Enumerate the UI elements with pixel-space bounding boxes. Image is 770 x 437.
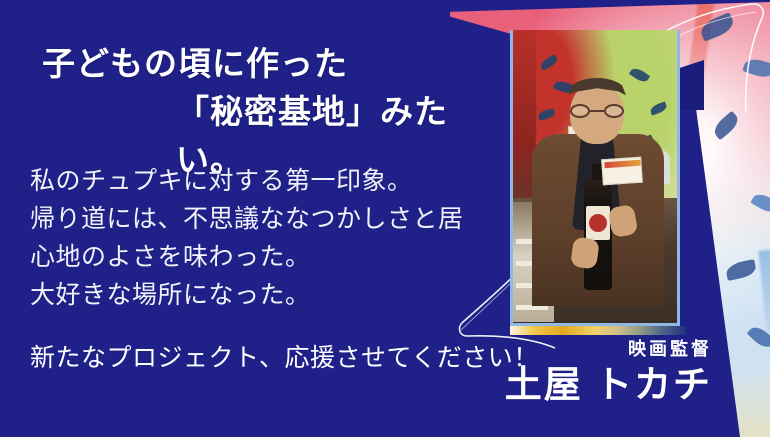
headline-line-1: 子どもの頃に作った (0, 40, 500, 88)
cta-text: 新たなプロジェクト、応援させてください！ (30, 338, 550, 374)
mural-leaf-shape (710, 111, 741, 140)
body-line-2: 帰り道には、不思議ななつかしさと居 (30, 200, 500, 238)
mural-leaf-shape (725, 259, 758, 281)
body-line-4: 大好きな場所になった。 (30, 276, 500, 314)
portrait-photo-content (510, 30, 680, 326)
mural-leaf-shape (742, 56, 770, 80)
body-copy: 私のチュプキに対する第一印象。 帰り道には、不思議ななつかしさと居 心地のよさを… (30, 162, 500, 314)
photo-paper-tag (601, 157, 643, 186)
credit-role: 映画監督 (505, 338, 712, 360)
blue-panel-top-strip (0, 0, 450, 30)
body-line-3: 心地のよさを味わった。 (30, 238, 500, 276)
photo-person-glasses (570, 104, 624, 118)
portrait-photo (510, 30, 680, 326)
credit-name: 土屋 トカチ (505, 362, 712, 408)
body-line-1: 私のチュプキに対する第一印象。 (30, 162, 500, 200)
mural-leaf-shape (750, 190, 770, 215)
credit-block: 映画監督 土屋 トカチ (505, 338, 712, 408)
slide-canvas: 子どもの頃に作った 「秘密基地」みたい。 私のチュプキに対する第一印象。 帰り道… (0, 0, 770, 437)
photo-gradient-bar (510, 326, 686, 335)
photo-bottle-label (586, 206, 610, 240)
